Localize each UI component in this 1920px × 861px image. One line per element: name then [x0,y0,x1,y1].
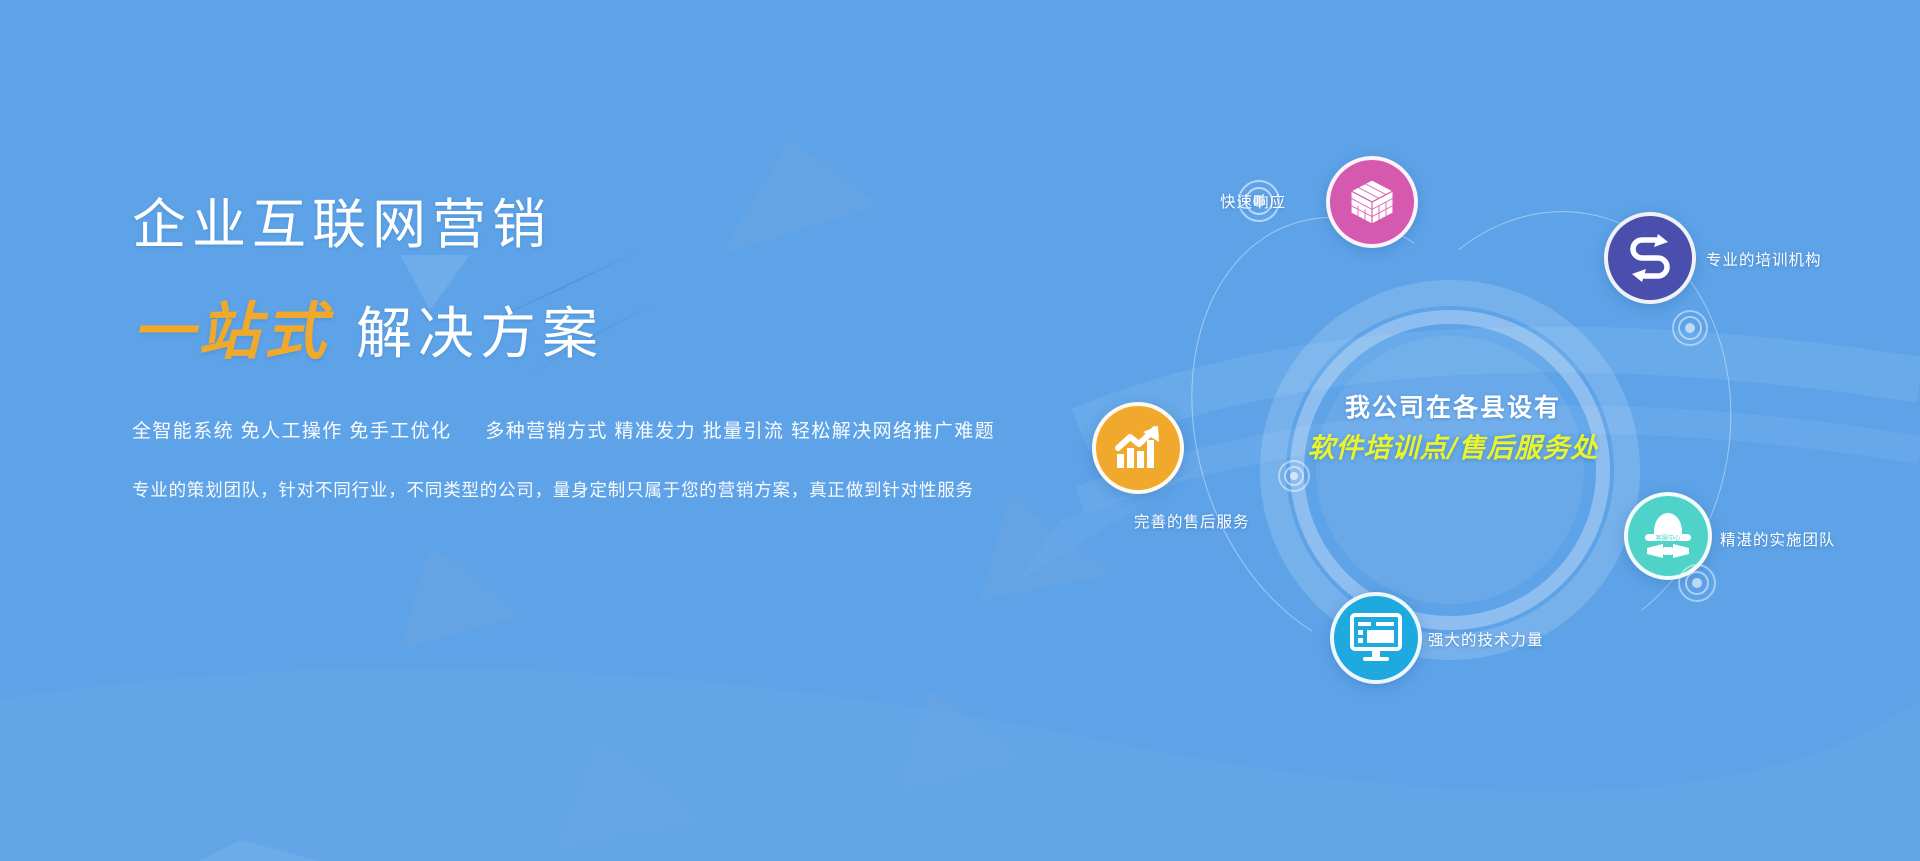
subtitle-description: 专业的策划团队，针对不同行业，不同类型的公司，量身定制只属于您的营销方案，真正做… [132,477,1052,502]
ripple-target-icon [1676,562,1718,604]
hub-node-label-aftersales: 完善的售后服务 [1134,510,1250,532]
ripple-target-icon [1276,458,1312,494]
growth-chart-icon [1112,424,1164,472]
hub-center-line-2: 软件培训点/售后服务处 [1278,430,1628,468]
service-hat-badge-text: 客服中心 [1656,534,1681,542]
marketing-banner: 企业互联网营销 一站式解决方案 全智能系统 免人工操作 免手工优化多种营销方式 … [0,0,1920,861]
headline-rest-text: 解决方案 [356,302,604,365]
headline-accent-text: 一站式 [132,295,330,368]
headline-secondary: 一站式解决方案 [132,299,1052,364]
cube-icon [1346,176,1398,228]
subtitle-features: 全智能系统 免人工操作 免手工优化多种营销方式 精准发力 批量引流 轻松解决网络… [132,416,1052,443]
hub-node-label-implementation: 精湛的实施团队 [1720,528,1836,550]
hub-center-text: 我公司在各县设有 软件培训点/售后服务处 [1278,390,1628,468]
hub-node-label-training: 专业的培训机构 [1706,248,1822,270]
hub-center-line-1: 我公司在各县设有 [1278,390,1628,426]
ripple-target-icon [1670,308,1710,348]
headline-primary: 企业互联网营销 [132,196,1052,255]
headline-block: 企业互联网营销 一站式解决方案 全智能系统 免人工操作 免手工优化多种营销方式 … [132,196,1052,502]
hub-node-label-fast-response: 快速响应 [1220,190,1286,212]
ring-inner [1316,336,1584,604]
hub-node-bubble-aftersales[interactable] [1092,402,1184,494]
subtitle-features-part-a: 全智能系统 免人工操作 免手工优化 [132,421,451,442]
service-hat-icon: 客服中心 [1639,508,1697,564]
hub-graphic: 我公司在各县设有 软件培训点/售后服务处 [1080,120,1920,820]
hub-node-bubble-training[interactable] [1604,212,1696,304]
hub-node-label-technology: 强大的技术力量 [1428,628,1544,650]
hub-node-bubble-fast-response[interactable] [1326,156,1418,248]
hub-node-bubble-technology[interactable] [1330,592,1422,684]
monitor-icon [1348,612,1404,664]
exchange-arrows-icon [1622,230,1678,286]
subtitle-features-part-b: 多种营销方式 精准发力 批量引流 轻松解决网络推广难题 [485,421,995,442]
